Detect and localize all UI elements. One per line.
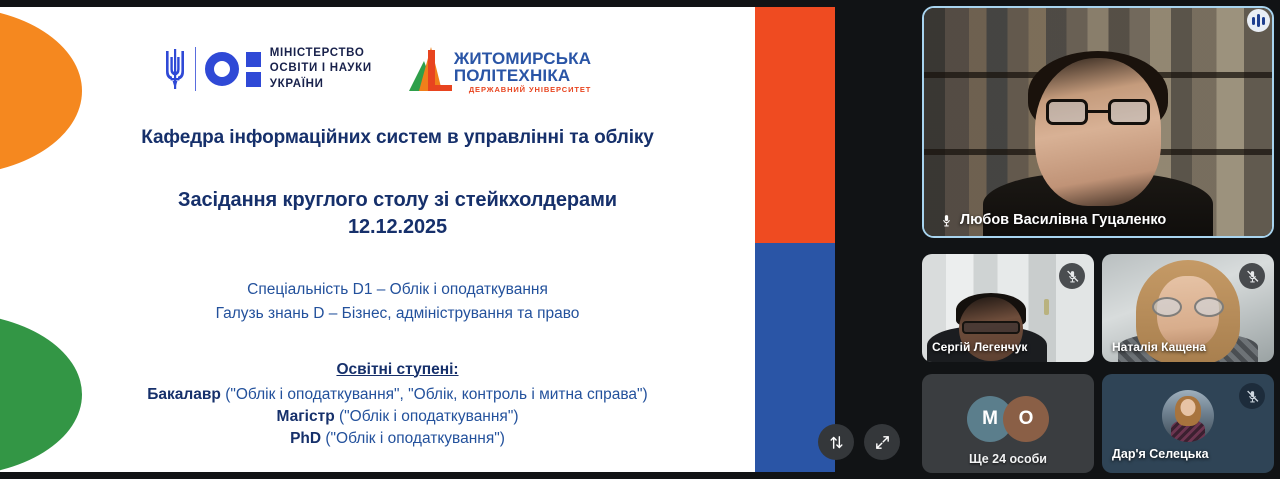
stage-control-buttons [818,424,900,460]
participant-name-tag: Наталія Кащена [1112,340,1206,354]
degree-line-phd: PhD ("Облік і оподаткування") [60,428,735,450]
department-title: Кафедра інформаційних систем в управлінн… [60,127,735,149]
degrees-heading: Освітні ступені: [60,361,735,379]
ministry-line-2: ОСВІТИ І НАУКИ [270,62,372,75]
mic-muted-badge[interactable] [1239,383,1265,409]
participant-3-name: Дар'я Селецька [1112,447,1209,461]
overflow-count-label: Ще 24 особи [922,452,1094,466]
degree-programs-master: ("Облік і оподаткування") [335,408,519,425]
degrees-block: Освітні ступені: Бакалавр ("Облік і опод… [60,361,735,450]
swap-layout-button[interactable] [818,424,854,460]
slide-content: Кафедра інформаційних систем в управлінн… [60,127,735,450]
active-speaker-name: Любов Василівна Гуцаленко [960,212,1166,228]
red-side-bar-decoration [755,7,835,243]
microphone-muted-icon [1246,270,1259,283]
arrows-up-down-icon [828,434,845,451]
degree-level-bachelor: Бакалавр [147,386,221,403]
specialty-block: Спеціальність D1 – Облік і оподаткування… [60,278,735,326]
microphone-muted-icon [1066,270,1079,283]
microphone-muted-icon [1246,390,1259,403]
squares-mark-icon [246,52,261,87]
participant-1-name: Сергій Легенчук [932,340,1027,354]
degree-level-phd: PhD [290,430,321,447]
degree-level-master: Магістр [277,408,335,425]
slide-logos: МІНІСТЕРСТВО ОСВІТИ І НАУКИ УКРАЇНИ ЖИТО… [0,45,755,93]
participants-rail: Любов Василівна Гуцаленко [916,0,1280,479]
zhytomyr-polytechnic-logo: ЖИТОМИРСЬКА ПОЛІТЕХНІКА ДЕРЖАВНИЙ УНІВЕР… [408,45,591,93]
participant-tile-3[interactable]: Дар'я Селецька [1102,374,1274,473]
degree-programs-bachelor: ("Облік і оподаткування", "Облік, контро… [221,386,648,403]
participant-tile-1[interactable]: Сергій Легенчук [922,254,1094,362]
audio-level-icon[interactable] [1247,9,1270,32]
ministry-line-1: МІНІСТЕРСТВО [270,47,372,60]
polytechnic-line-1: ЖИТОМИРСЬКА [454,50,591,67]
expand-diagonal-icon [874,434,891,451]
presentation-slide: МІНІСТЕРСТВО ОСВІТИ І НАУКИ УКРАЇНИ ЖИТО… [0,7,835,472]
degree-programs-phd: ("Облік і оподаткування") [321,430,505,447]
video-call-window: МІНІСТЕРСТВО ОСВІТИ І НАУКИ УКРАЇНИ ЖИТО… [0,0,1280,479]
mic-muted-badge[interactable] [1239,263,1265,289]
participant-tile-overflow[interactable]: М О Ще 24 особи [922,374,1094,473]
overflow-avatars: М О [967,396,1049,442]
avatar [1162,390,1214,442]
polytechnic-line-3: ДЕРЖАВНИЙ УНІВЕРСИТЕТ [454,86,591,94]
logo-divider [195,47,196,91]
polytechnic-mark-icon [408,45,450,93]
event-date: 12.12.2025 [60,214,735,241]
specialty-line: Спеціальність D1 – Облік і оподаткування [60,278,735,301]
participant-tile-2[interactable]: Наталія Кащена [1102,254,1274,362]
ministry-of-education-logo: МІНІСТЕРСТВО ОСВІТИ І НАУКИ УКРАЇНИ [164,45,372,93]
ministry-logo-text: МІНІСТЕРСТВО ОСВІТИ І НАУКИ УКРАЇНИ [270,47,372,91]
microphone-active-icon [940,213,953,228]
mic-muted-badge[interactable] [1059,263,1085,289]
screen-share-stage[interactable]: МІНІСТЕРСТВО ОСВІТИ І НАУКИ УКРАЇНИ ЖИТО… [0,0,908,479]
event-title-text: Засідання круглого столу зі стейкхолдера… [60,187,735,214]
polytechnic-logo-text: ЖИТОМИРСЬКА ПОЛІТЕХНІКА ДЕРЖАВНИЙ УНІВЕР… [454,50,591,94]
participant-name-tag: Любов Василівна Гуцаленко [940,212,1166,228]
participant-name-tag: Дар'я Селецька [1112,447,1209,461]
event-title: Засідання круглого столу зі стейкхолдера… [60,187,735,241]
participant-tile-active-speaker[interactable]: Любов Василівна Гуцаленко [922,6,1274,238]
ministry-line-3: УКРАЇНИ [270,78,372,91]
avatar-initial-o: О [1003,396,1049,442]
degree-line-master: Магістр ("Облік і оподаткування") [60,406,735,428]
circle-mark-icon [205,52,239,86]
polytechnic-line-2: ПОЛІТЕХНІКА [454,67,591,84]
field-line: Галузь знань D – Бізнес, адміністрування… [60,302,735,325]
participant-2-name: Наталія Кащена [1112,340,1206,354]
ukraine-trident-icon [164,45,186,93]
fullscreen-button[interactable] [864,424,900,460]
degree-line-bachelor: Бакалавр ("Облік і оподаткування", "Облі… [60,384,735,406]
video-feed [924,8,1272,236]
mon-emblem [205,52,261,87]
participant-name-tag: Сергій Легенчук [932,340,1027,354]
